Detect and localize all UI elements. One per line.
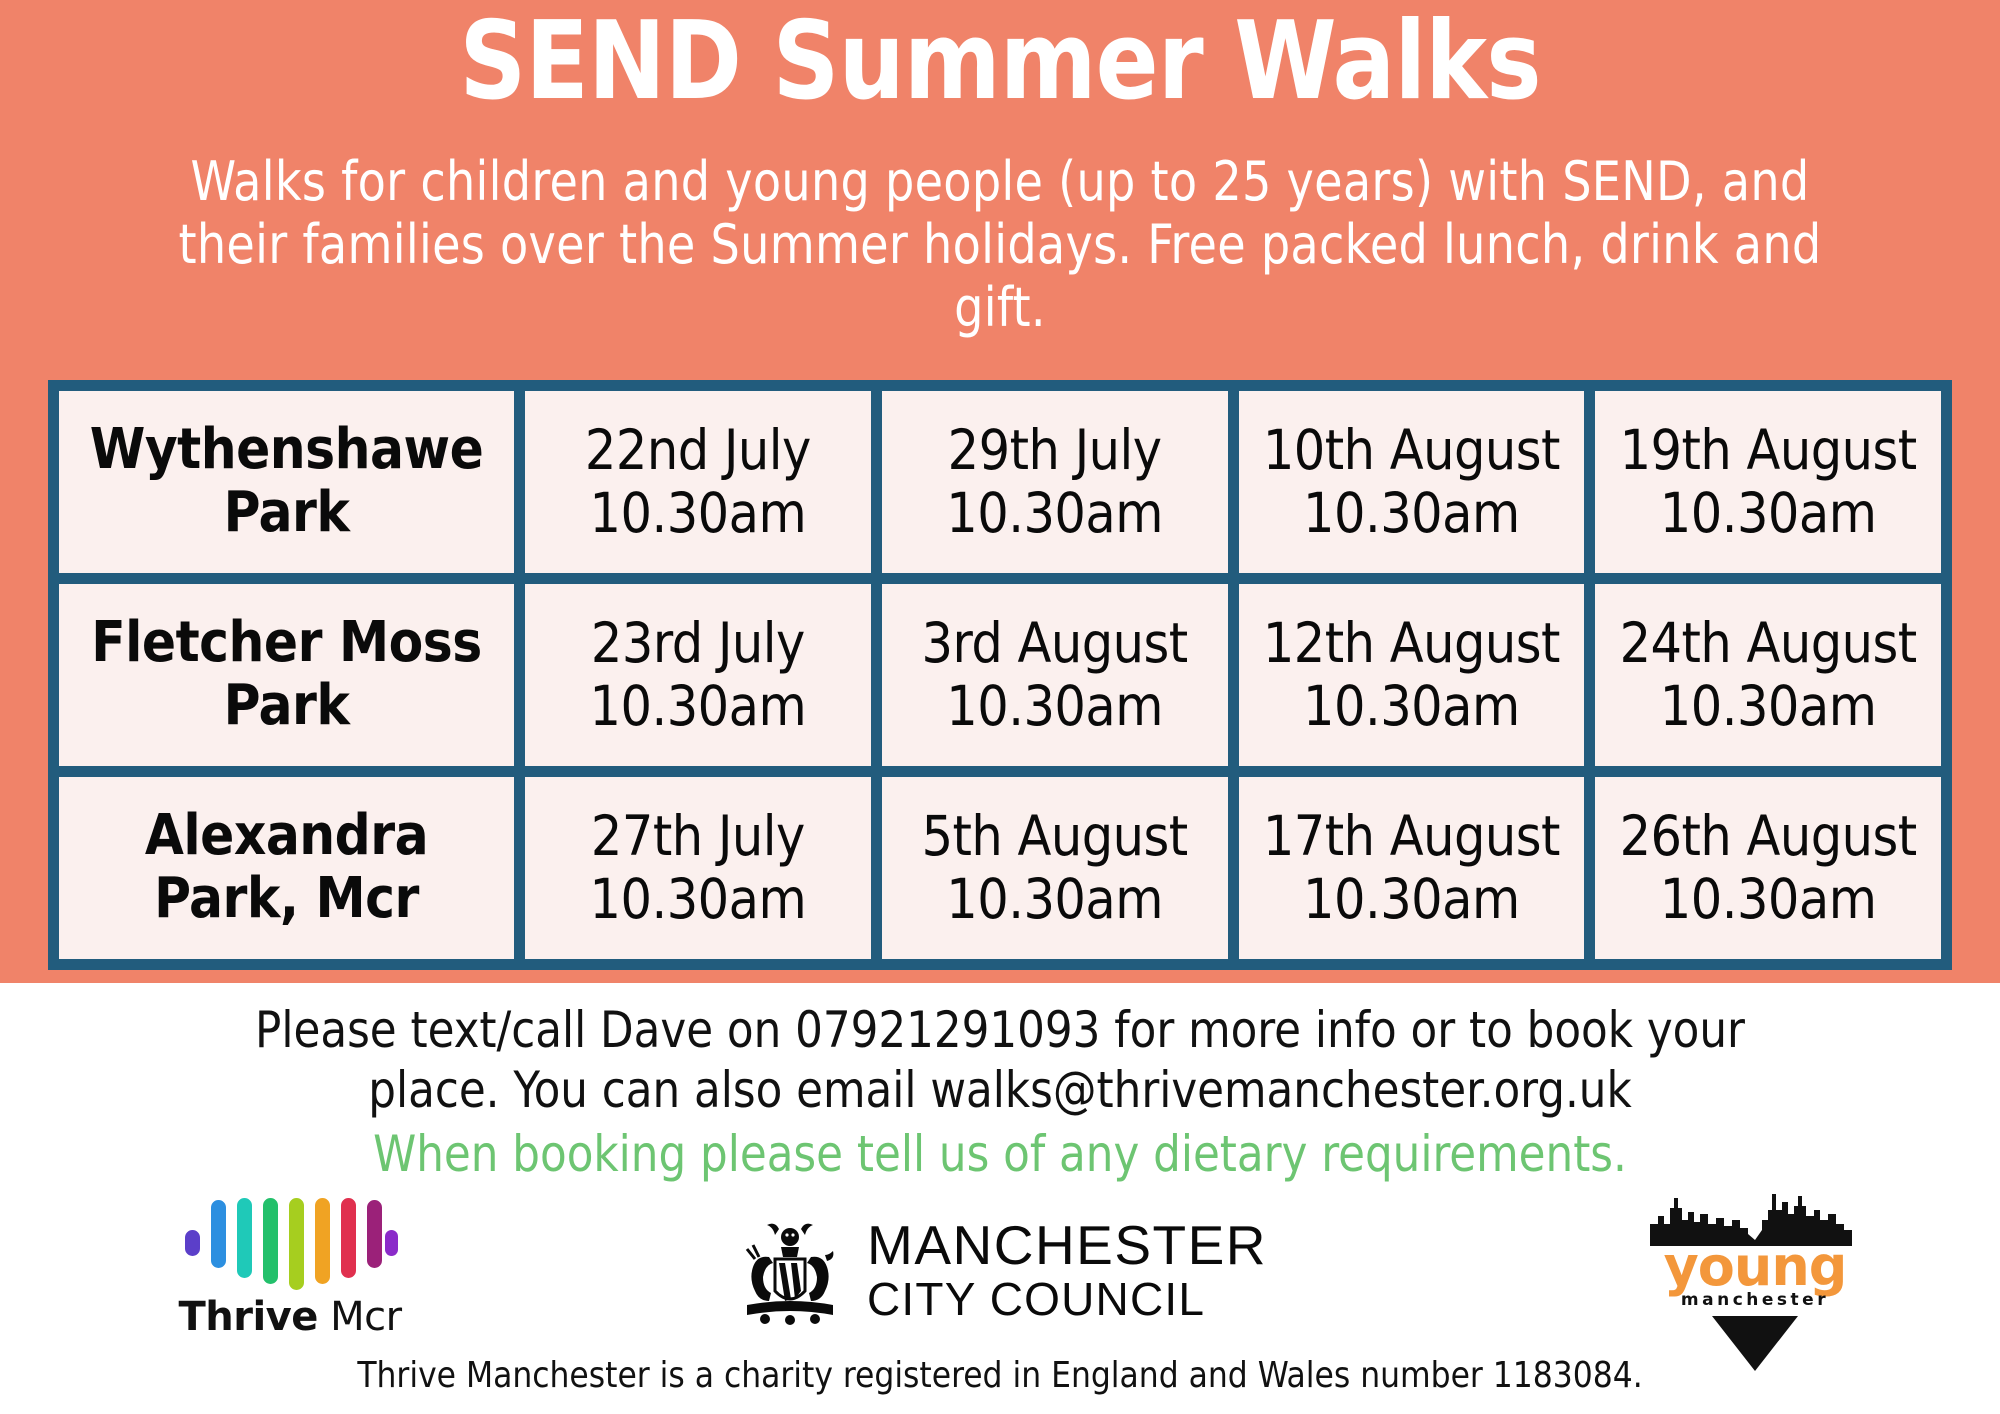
- date-day: 19th August: [1620, 419, 1917, 482]
- cell-date: 23rd July 10.30am: [525, 584, 871, 766]
- table-row: Alexandra Park, Mcr 27th July 10.30am 5t…: [59, 777, 1941, 959]
- date-day: 24th August: [1620, 612, 1917, 675]
- dietary-notice: When booking please tell us of any dieta…: [69, 1124, 1931, 1184]
- date-day: 26th August: [1620, 805, 1917, 868]
- poster-subtitle: Walks for children and young people (up …: [164, 150, 1836, 340]
- date-time: 10.30am: [1303, 868, 1520, 931]
- table-row: Fletcher Moss Park 23rd July 10.30am 3rd…: [59, 584, 1941, 766]
- cell-date: 19th August 10.30am: [1595, 391, 1941, 573]
- date-time: 10.30am: [590, 675, 807, 738]
- date-day: 12th August: [1263, 612, 1560, 675]
- thrive-mcr-label: Thrive Mcr: [150, 1294, 430, 1340]
- date-time: 10.30am: [946, 868, 1163, 931]
- date-day: 5th August: [922, 805, 1188, 868]
- date-day: 10th August: [1263, 419, 1560, 482]
- logo-row: Thrive Mcr: [0, 1190, 2000, 1350]
- date-time: 10.30am: [1303, 675, 1520, 738]
- date-time: 10.30am: [1660, 868, 1877, 931]
- thrive-text-light: Mcr: [318, 1294, 402, 1340]
- schedule-table: Wythenshawe Park 22nd July 10.30am 29th …: [48, 380, 1952, 970]
- date-time: 10.30am: [1660, 675, 1877, 738]
- mcc-line-2: CITY COUNCIL: [867, 1275, 1267, 1323]
- cell-date: 22nd July 10.30am: [525, 391, 871, 573]
- poster-root: SEND Summer Walks Walks for children and…: [0, 0, 2000, 1414]
- date-day: 27th July: [591, 805, 805, 868]
- thrive-text-bold: Thrive: [178, 1294, 317, 1340]
- cell-date: 10th August 10.30am: [1239, 391, 1585, 573]
- young-manchester-logo: young manchester: [1640, 1180, 1870, 1355]
- charity-footer: Thrive Manchester is a charity registere…: [30, 1355, 1970, 1396]
- date-time: 10.30am: [946, 675, 1163, 738]
- date-time: 10.30am: [590, 482, 807, 545]
- cell-date: 5th August 10.30am: [882, 777, 1228, 959]
- coat-of-arms-icon: [735, 1215, 845, 1325]
- cell-date: 27th July 10.30am: [525, 777, 871, 959]
- manchester-wordmark: manchester: [1640, 1292, 1870, 1309]
- cell-location: Fletcher Moss Park: [59, 584, 514, 766]
- date-day: 29th July: [948, 419, 1162, 482]
- cell-date: 3rd August 10.30am: [882, 584, 1228, 766]
- contact-line-1: Please text/call Dave on 07921291093 for…: [69, 1000, 1931, 1060]
- cell-date: 29th July 10.30am: [882, 391, 1228, 573]
- thrive-mcr-logo: Thrive Mcr: [150, 1190, 430, 1345]
- date-time: 10.30am: [946, 482, 1163, 545]
- table-row: Wythenshawe Park 22nd July 10.30am 29th …: [59, 391, 1941, 573]
- page-title: SEND Summer Walks: [140, 8, 1860, 116]
- cell-date: 24th August 10.30am: [1595, 584, 1941, 766]
- date-day: 3rd August: [922, 612, 1188, 675]
- date-day: 23rd July: [591, 612, 805, 675]
- young-wordmark: young: [1640, 1240, 1870, 1294]
- cell-location: Alexandra Park, Mcr: [59, 777, 514, 959]
- thrive-heart-icon: [185, 1190, 395, 1290]
- cell-date: 12th August 10.30am: [1239, 584, 1585, 766]
- contact-line-2: place. You can also email walks@thrivema…: [69, 1060, 1931, 1120]
- date-time: 10.30am: [590, 868, 807, 931]
- manchester-city-council-logo: MANCHESTER CITY COUNCIL: [735, 1210, 1265, 1330]
- manchester-city-council-wordmark: MANCHESTER CITY COUNCIL: [867, 1217, 1267, 1323]
- date-day: 22nd July: [585, 419, 811, 482]
- cell-date: 17th August 10.30am: [1239, 777, 1585, 959]
- mcc-line-1: MANCHESTER: [867, 1217, 1267, 1275]
- contact-block: Please text/call Dave on 07921291093 for…: [69, 1000, 1931, 1184]
- date-day: 17th August: [1263, 805, 1560, 868]
- date-time: 10.30am: [1303, 482, 1520, 545]
- cell-location: Wythenshawe Park: [59, 391, 514, 573]
- date-time: 10.30am: [1660, 482, 1877, 545]
- cell-date: 26th August 10.30am: [1595, 777, 1941, 959]
